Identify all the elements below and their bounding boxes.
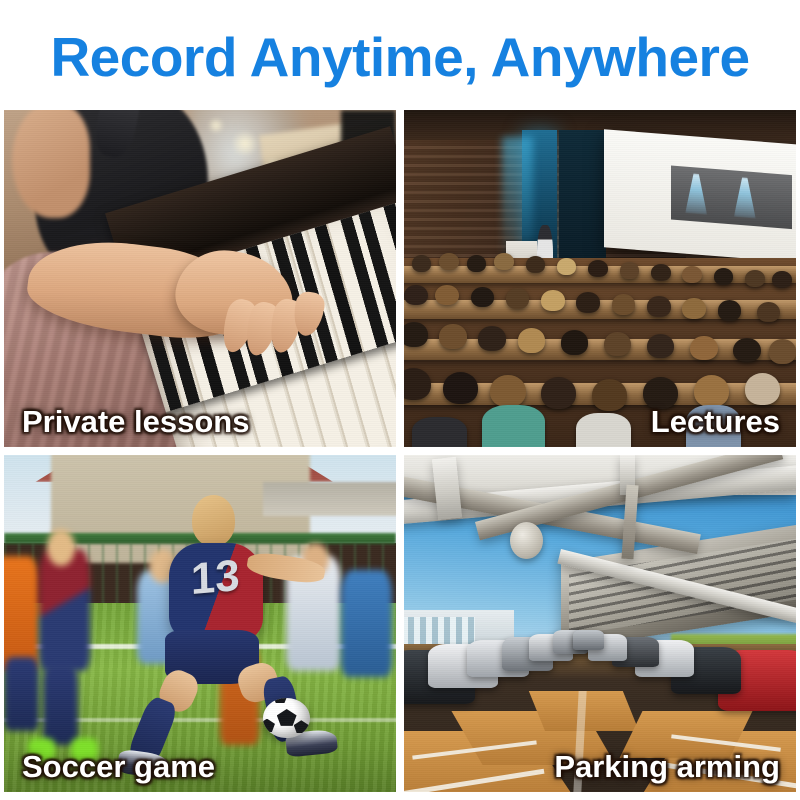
piano-photo	[4, 110, 396, 447]
tile-caption-parking-arming: Parking arming	[554, 748, 780, 786]
tile-lectures[interactable]: Lectures	[404, 110, 796, 447]
tile-caption-soccer-game: Soccer game	[22, 748, 215, 786]
lecture-hall-photo	[404, 110, 796, 447]
tile-soccer-game[interactable]: 13 Soccer game	[4, 455, 396, 792]
jersey-number: 13	[180, 553, 251, 603]
tile-caption-private-lessons: Private lessons	[22, 403, 249, 441]
soccer-photo: 13	[4, 455, 396, 792]
parking-deck-photo	[404, 455, 796, 792]
tile-parking-arming[interactable]: Parking arming	[404, 455, 796, 792]
feature-grid: Private lessons	[4, 110, 796, 792]
promo-poster: Record Anytime, Anywhere	[0, 0, 800, 800]
tile-private-lessons[interactable]: Private lessons	[4, 110, 396, 447]
tile-caption-lectures: Lectures	[651, 403, 780, 441]
page-title: Record Anytime, Anywhere	[0, 26, 800, 88]
